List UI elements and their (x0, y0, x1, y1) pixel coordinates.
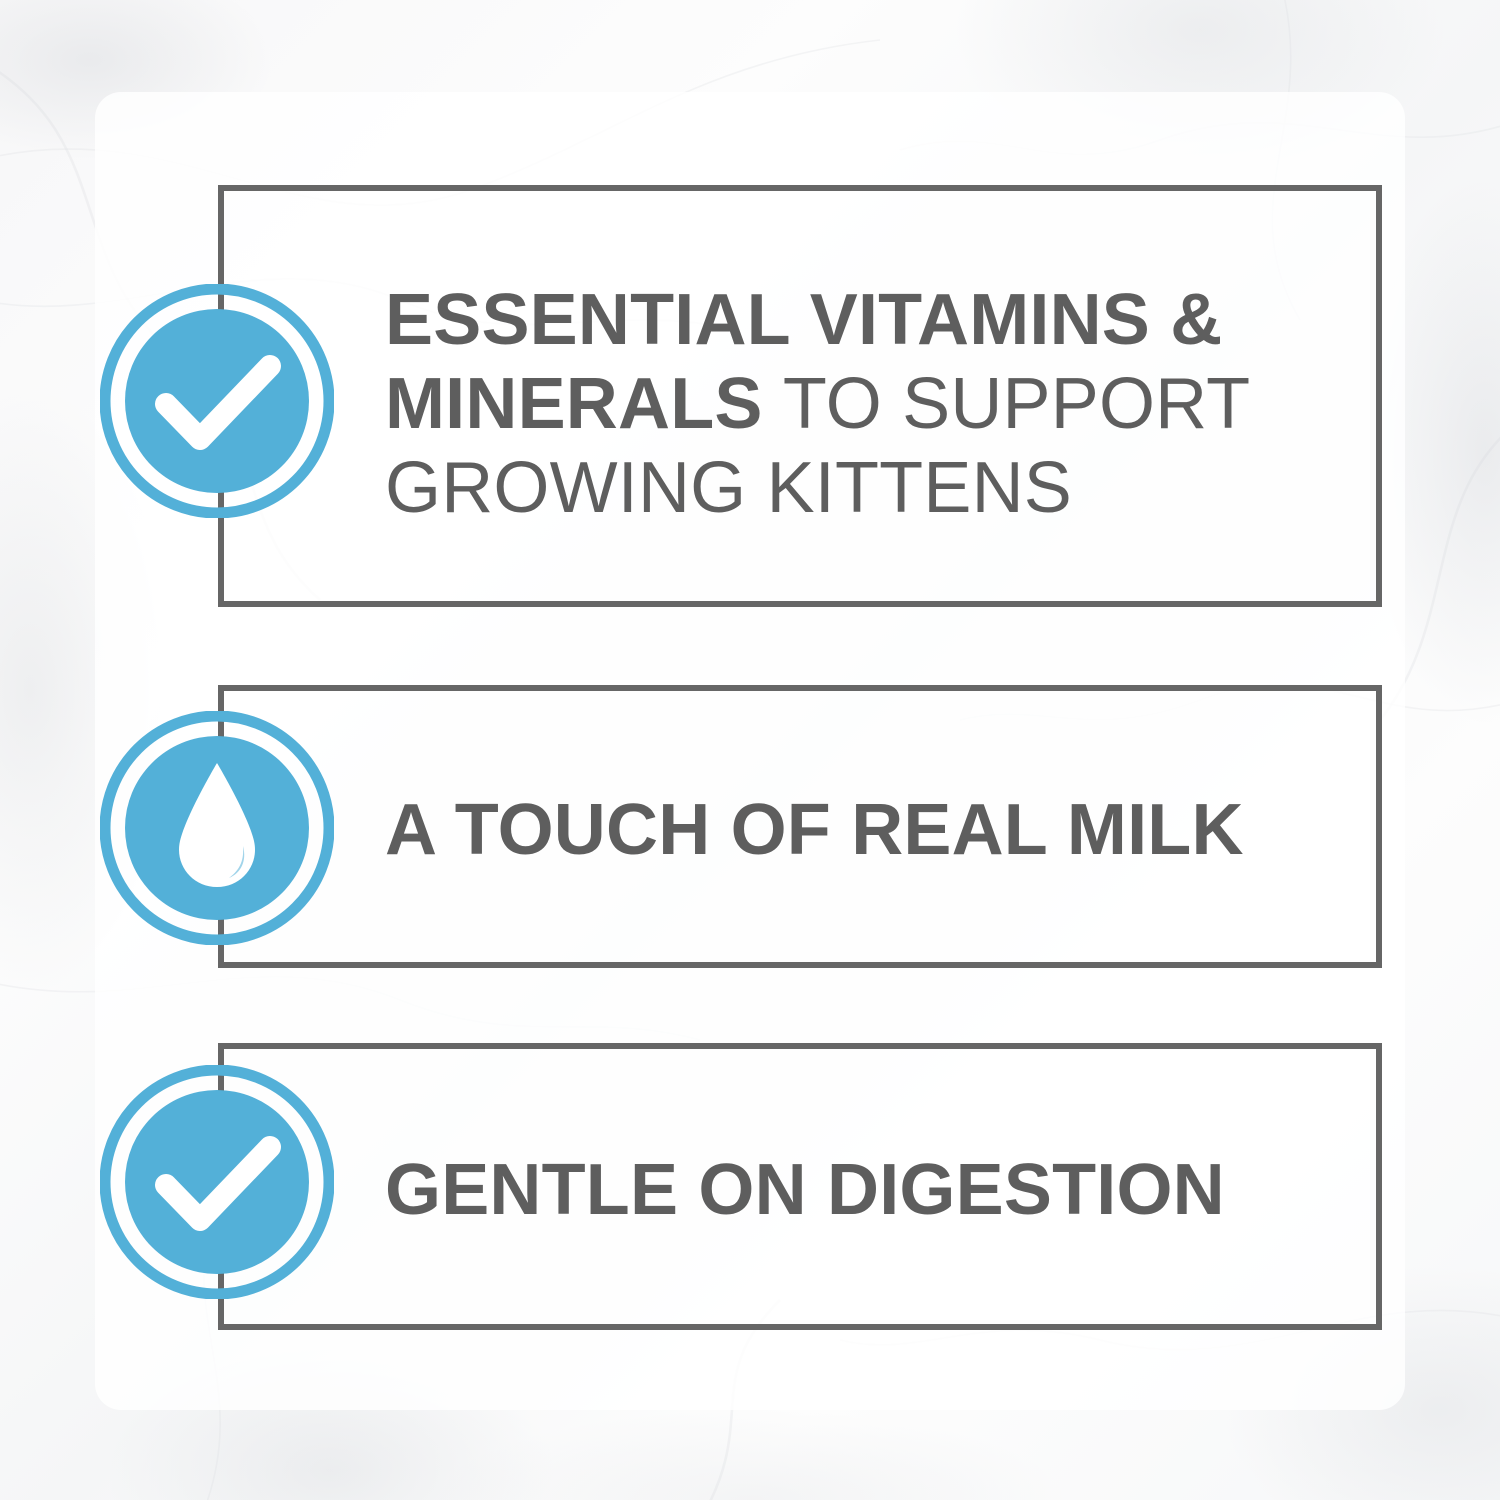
badge-water-drop (100, 711, 334, 945)
feature-label: GENTLE ON DIGESTION (385, 1148, 1315, 1232)
feature-label-bold: A TOUCH OF REAL MILK (385, 790, 1244, 870)
feature-label: ESSENTIAL VITAMINS & MINERALS TO SUPPORT… (385, 278, 1305, 531)
badge-inner-disk (125, 309, 309, 493)
feature-label: A TOUCH OF REAL MILK (385, 788, 1315, 872)
product-feature-infographic: ESSENTIAL VITAMINS & MINERALS TO SUPPORT… (0, 0, 1500, 1500)
badge-inner-disk (125, 1090, 309, 1274)
badge-checkmark (100, 1065, 334, 1299)
feature-label-bold: GENTLE ON DIGESTION (385, 1150, 1225, 1230)
badge-checkmark (100, 284, 334, 518)
